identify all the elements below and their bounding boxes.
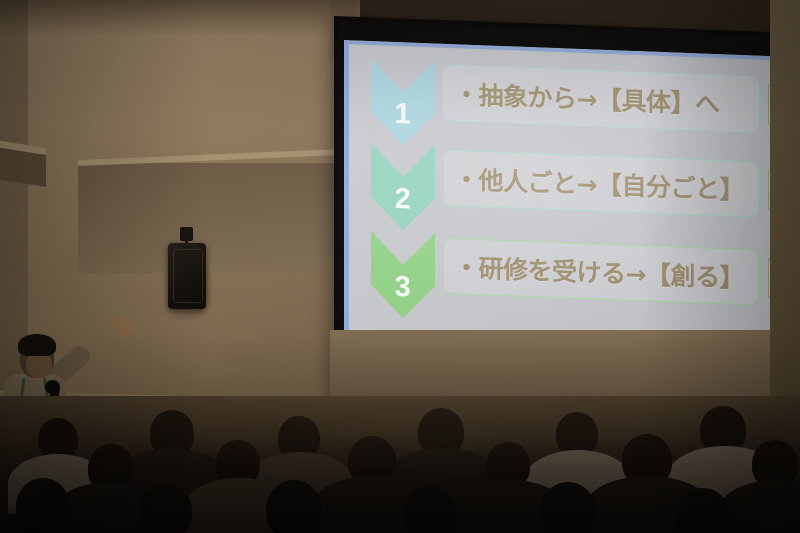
- chevron-icon-1: 1: [371, 58, 435, 146]
- audience-head: [540, 482, 596, 533]
- projected-slide: 1 ・抽象から→【具体】へ AA 2 ・他人ごと→【自分ごと】: [344, 40, 800, 357]
- slide-row-2: 2 ・他人ごと→【自分ごと】 AA: [349, 142, 800, 247]
- slide-text-pill-2: ・他人ごと→【自分ごと】: [443, 150, 759, 218]
- slide-text-pill-1: ・抽象から→【具体】へ: [443, 65, 759, 133]
- audience-head: [16, 478, 70, 533]
- audience: [0, 396, 800, 533]
- presenter-hair: [18, 334, 56, 356]
- wall-below-screen: [330, 330, 800, 396]
- chevron-icon-3: 3: [371, 231, 435, 319]
- chevron-number-2: 2: [395, 185, 412, 231]
- speaker-grille: [173, 249, 203, 303]
- wall-recess: [78, 163, 360, 273]
- audience-head: [266, 480, 322, 533]
- chevron-number-3: 3: [395, 273, 412, 319]
- slide-row-text-2: ・他人ごと→【自分ごと】: [454, 160, 744, 207]
- slide-row-3: 3 ・研修を受ける→【創る】 AA: [349, 230, 800, 335]
- presentation-photo-scene: 1 ・抽象から→【具体】へ AA 2 ・他人ごと→【自分ごと】: [0, 0, 800, 533]
- slide-canvas: 1 ・抽象から→【具体】へ AA 2 ・他人ごと→【自分ごと】: [344, 40, 800, 357]
- ceiling-shadow: [0, 0, 360, 36]
- chevron-number-1: 1: [395, 100, 412, 146]
- slide-row-text-1: ・抽象から→【具体】へ: [454, 75, 719, 121]
- audience-head: [404, 486, 456, 533]
- slide-text-pill-3: ・研修を受ける→【創る】: [443, 238, 759, 306]
- audience-head: [140, 484, 192, 533]
- chevron-icon-2: 2: [371, 143, 435, 231]
- slide-row-text-3: ・研修を受ける→【創る】: [454, 248, 744, 295]
- wall-far-right: [770, 0, 800, 400]
- microphone-head: [45, 380, 60, 394]
- slide-rows: 1 ・抽象から→【具体】へ AA 2 ・他人ごと→【自分ごと】: [349, 44, 800, 350]
